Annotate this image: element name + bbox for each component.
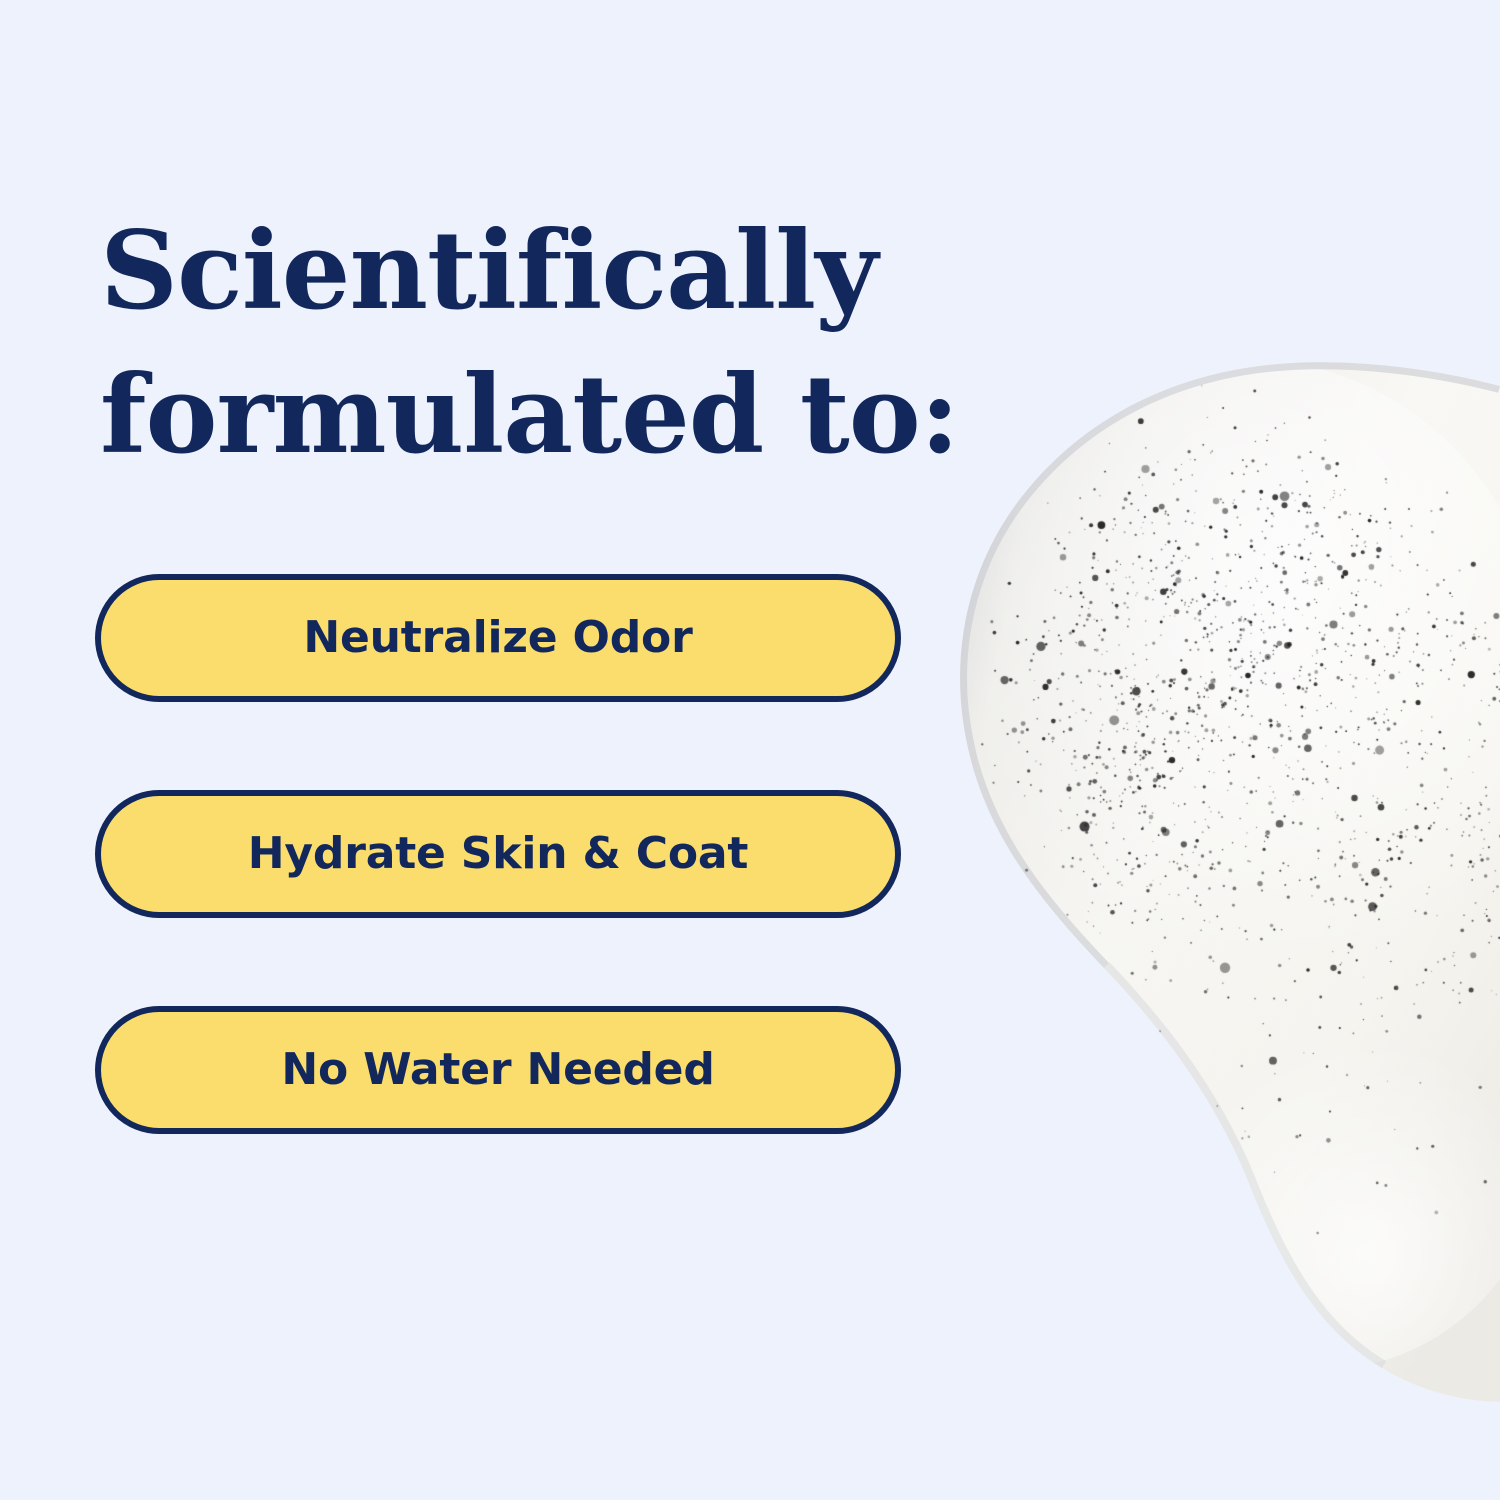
benefit-pill-label: Hydrate Skin & Coat: [248, 832, 748, 876]
benefit-pill-neutralize-odor[interactable]: Neutralize Odor: [95, 574, 901, 702]
marketing-graphic: Scientifically formulated to: Neutralize…: [0, 0, 1500, 1500]
page-title: Scientifically formulated to:: [100, 200, 1000, 487]
benefit-pill-no-water-needed[interactable]: No Water Needed: [95, 1006, 901, 1134]
benefit-pill-list: Neutralize Odor Hydrate Skin & Coat No W…: [95, 574, 901, 1134]
benefit-pill-hydrate-skin-coat[interactable]: Hydrate Skin & Coat: [95, 790, 901, 918]
benefit-pill-label: Neutralize Odor: [303, 616, 692, 660]
benefit-pill-label: No Water Needed: [281, 1048, 714, 1092]
